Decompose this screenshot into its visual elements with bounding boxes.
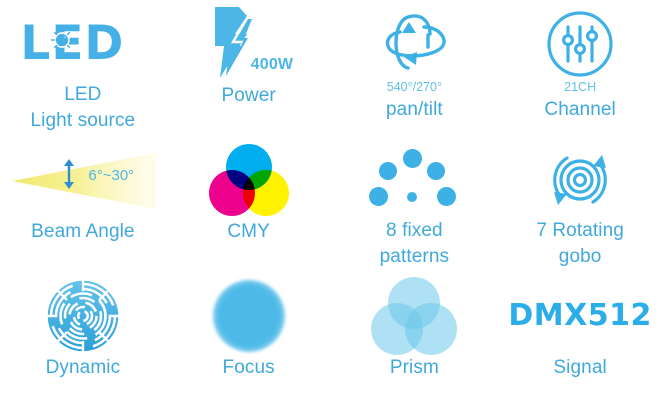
beam-triangle-icon bbox=[10, 153, 160, 209]
pattern-dot bbox=[369, 187, 388, 206]
dmx-wordmark-text: DMX512 bbox=[508, 280, 652, 352]
cmy-color-mix-icon bbox=[209, 144, 289, 216]
pan-tilt-arrows-icon bbox=[372, 8, 456, 80]
dmx-wordmark-icon: DMX512 bbox=[508, 280, 652, 352]
led-wordmark-text: LED bbox=[20, 18, 145, 70]
prism-circle-right bbox=[405, 303, 457, 355]
feature-label-patterns-line1: 8 fixed bbox=[386, 220, 443, 242]
feature-label-cmy: CMY bbox=[227, 220, 270, 243]
rotating-gobo-icon bbox=[544, 144, 616, 216]
pattern-dot bbox=[407, 192, 417, 202]
feature-label-signal: Signal bbox=[553, 356, 606, 379]
feature-cell-pan-tilt: 540°/270° pan/tilt bbox=[332, 0, 498, 136]
prism-circles-icon bbox=[371, 280, 457, 352]
lightning-bolt-icon: 400W bbox=[189, 8, 309, 80]
feature-cell-signal: DMX512 Signal bbox=[497, 272, 663, 409]
feature-cell-rotating-gobo: 7 Rotating gobo bbox=[497, 136, 663, 272]
pattern-dot bbox=[437, 187, 456, 206]
yellow-circle-icon bbox=[243, 170, 289, 216]
led-wordmark-icon: LED bbox=[20, 8, 145, 80]
feature-cell-cmy: CMY bbox=[166, 136, 332, 272]
pan-tilt-rotation-icon bbox=[372, 8, 456, 80]
feature-label-dynamic: Dynamic bbox=[46, 356, 121, 379]
dot-pattern-icon bbox=[369, 144, 459, 216]
feature-cell-power: 400W Power bbox=[166, 0, 332, 136]
feature-spec-grid: LED LED bbox=[0, 0, 663, 409]
pattern-dot bbox=[427, 162, 445, 180]
focus-beam-blob bbox=[213, 280, 285, 352]
beam-height-arrow-icon bbox=[62, 159, 76, 189]
maze-circles-icon bbox=[45, 278, 121, 354]
pattern-dot bbox=[403, 149, 422, 168]
lightbulb-icon bbox=[47, 25, 77, 55]
feature-label-focus: Focus bbox=[223, 356, 275, 379]
feature-label-pan-tilt: pan/tilt bbox=[386, 98, 443, 121]
feature-label-prism: Prism bbox=[390, 356, 439, 379]
feature-label-patterns-line2: patterns bbox=[380, 246, 449, 268]
feature-cell-prism: Prism bbox=[332, 272, 498, 409]
pattern-dot bbox=[379, 162, 397, 180]
feature-label-gobo-line2: gobo bbox=[559, 246, 602, 268]
gobo-rotation-icon bbox=[544, 144, 616, 216]
focus-blur-circle-icon bbox=[213, 280, 285, 352]
feature-cell-led-light-source: LED LED bbox=[0, 0, 166, 136]
beam-cone-icon: 6°~30° bbox=[0, 144, 165, 216]
feature-label-led-line1: LED bbox=[64, 84, 101, 106]
feature-label-beam-angle: Beam Angle bbox=[31, 220, 134, 243]
feature-cell-beam-angle: 6°~30° Beam Angle bbox=[0, 136, 166, 272]
feature-label-power: Power bbox=[221, 84, 275, 107]
feature-cell-fixed-patterns: 8 fixed patterns bbox=[332, 136, 498, 272]
sliders-circle-icon bbox=[546, 8, 614, 80]
feature-cell-channel: 21CH Channel bbox=[497, 0, 663, 136]
feature-label-gobo-line1: 7 Rotating bbox=[536, 220, 624, 242]
feature-label-led-line2: Light source bbox=[31, 110, 136, 132]
feature-cell-focus: Focus bbox=[166, 272, 332, 409]
beam-angle-value: 6°~30° bbox=[88, 167, 134, 184]
faders-icon bbox=[546, 10, 614, 78]
dynamic-maze-gobo-icon bbox=[45, 280, 121, 352]
feature-label-channel: Channel bbox=[544, 98, 615, 121]
pan-tilt-value: 540°/270° bbox=[387, 80, 442, 94]
channel-value: 21CH bbox=[564, 80, 596, 94]
feature-cell-dynamic: Dynamic bbox=[0, 272, 166, 409]
power-value: 400W bbox=[251, 56, 294, 74]
